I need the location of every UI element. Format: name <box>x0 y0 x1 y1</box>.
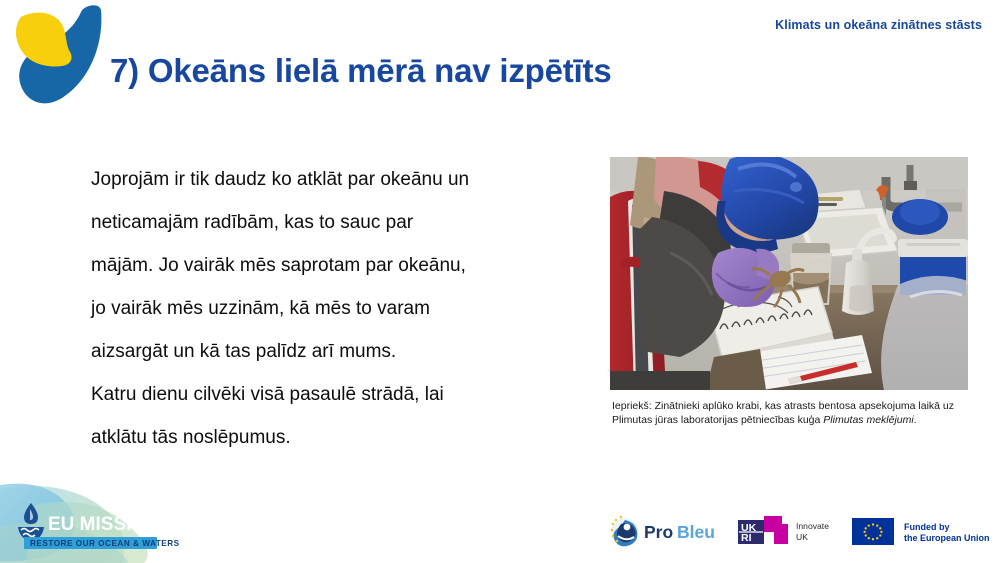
caption-end: . <box>914 414 917 426</box>
footer-logo-strip: Pro Bleu UK RI Innovate UK <box>608 512 988 554</box>
funded-by-label-line-2: the European Union <box>904 533 990 543</box>
body-line: aizsargāt un kā tas palīdz arī mums. <box>91 330 566 373</box>
probleu-logo: Pro Bleu <box>608 514 726 548</box>
body-line: mājām. Jo vairāk mēs saprotam par okeānu… <box>91 244 566 287</box>
funded-by-eu-logo: Funded by the European Union <box>852 514 990 548</box>
eu-flag-icon <box>852 518 894 545</box>
body-line: neticamajām radībām, kas to sauc par <box>91 201 566 244</box>
body-text-block: Joprojām ir tik daudz ko atklāt par okeā… <box>91 158 566 459</box>
deck-header-title: Klimats un okeāna zinātnes stāsts <box>775 18 982 32</box>
crescent-droplet-logo <box>8 2 118 110</box>
probleu-swirl-icon <box>611 516 638 547</box>
funded-by-label-line-1: Funded by <box>904 522 950 532</box>
eu-missions-logo: EU MISSIONS RESTORE OUR OCEAN & WATERS <box>0 483 185 563</box>
ukri-mark-line-2: RI <box>741 532 752 544</box>
eu-missions-title: EU MISSIONS <box>48 514 173 535</box>
body-line: jo vairāk mēs uzzinām, kā mēs to varam <box>91 287 566 330</box>
photo-caption: Iepriekš: Zinātnieki aplūko krabi, kas a… <box>612 400 972 427</box>
slide-canvas: Klimats un okeāna zinātnes stāsts 7) Oke… <box>0 0 1000 563</box>
innovate-uk-label-line-1: Innovate <box>796 521 829 531</box>
scientists-examining-crab-photo <box>610 157 968 390</box>
probleu-text-pro: Pro <box>644 522 673 542</box>
body-line: atklātu tās noslēpumus. <box>91 416 566 459</box>
body-line: Katru dienu cilvēki visā pasaulē strādā,… <box>91 373 566 416</box>
caption-vessel-name: Plimutas meklējumi <box>823 414 913 426</box>
body-line: Joprojām ir tik daudz ko atklāt par okeā… <box>91 158 566 201</box>
page-title: 7) Okeāns lielā mērā nav izpētīts <box>110 52 611 90</box>
innovate-uk-label-line-2: UK <box>796 532 808 542</box>
eu-missions-subtitle: RESTORE OUR OCEAN & WATERS <box>30 539 180 548</box>
innovate-uk-logo: UK RI Innovate UK <box>736 514 844 548</box>
probleu-text-bleu: Bleu <box>677 522 715 542</box>
